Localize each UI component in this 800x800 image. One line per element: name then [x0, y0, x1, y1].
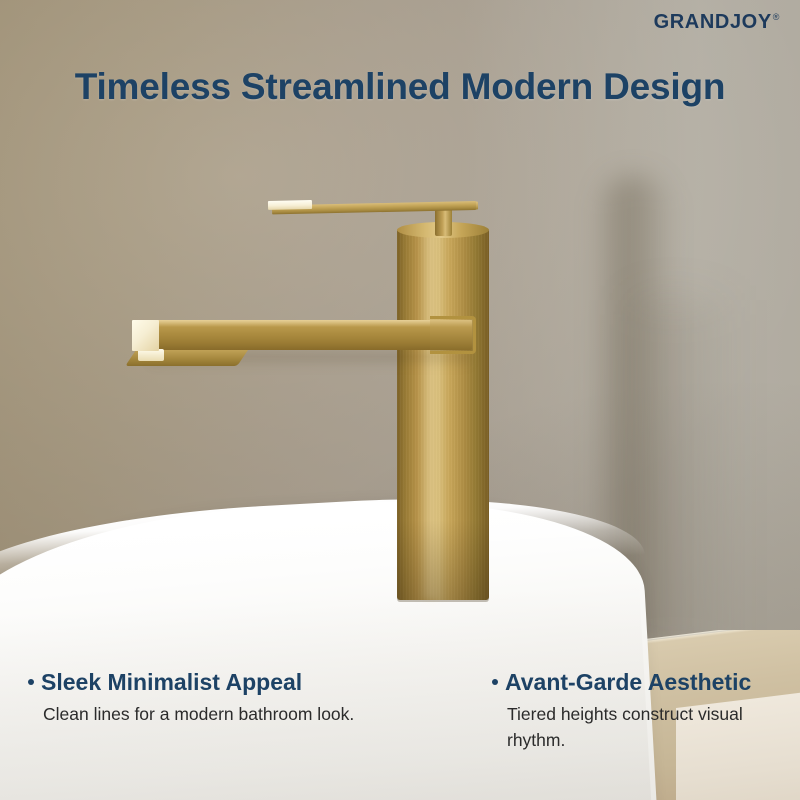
- feature-title: Sleek Minimalist Appeal: [41, 670, 302, 696]
- feature-heading: Sleek Minimalist Appeal: [28, 670, 408, 696]
- brand-name: GRANDJOY: [654, 12, 772, 32]
- product-marketing-banner: GRANDJOY ® Timeless Streamlined Modern D…: [0, 0, 800, 800]
- bullet-icon: [28, 679, 34, 685]
- brand-logo: GRANDJOY ®: [654, 12, 780, 32]
- faucet-spout-highlight: [152, 320, 472, 327]
- feature-item-avant-garde-aesthetic: Avant-Garde Aesthetic Tiered heights con…: [492, 670, 792, 754]
- feature-item-sleek-minimalist-appeal: Sleek Minimalist Appeal Clean lines for …: [28, 670, 408, 727]
- feature-description: Clean lines for a modern bathroom look.: [43, 701, 408, 728]
- faucet-handle-lever-tip[interactable]: [268, 200, 312, 210]
- registered-trademark-icon: ®: [773, 13, 780, 22]
- feature-description: Tiered heights construct visual rhythm.: [507, 701, 792, 754]
- feature-list: Sleek Minimalist Appeal Clean lines for …: [0, 670, 800, 800]
- faucet-spout-collar: [430, 316, 476, 354]
- feature-title: Avant-Garde Aesthetic: [505, 670, 751, 696]
- bullet-icon: [492, 679, 498, 685]
- feature-heading: Avant-Garde Aesthetic: [492, 670, 792, 696]
- faucet-spout-end-cap: [132, 320, 159, 351]
- page-title: Timeless Streamlined Modern Design: [0, 66, 800, 108]
- faucet-column-base-shading: [397, 520, 489, 602]
